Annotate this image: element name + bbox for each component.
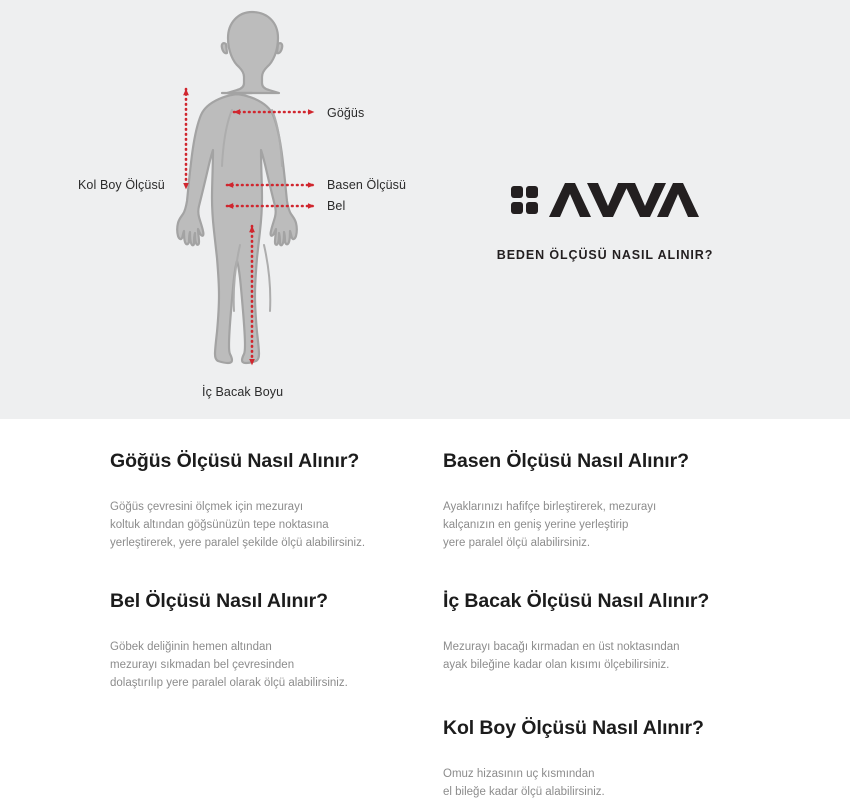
label-chest: Göğüs (327, 106, 364, 120)
instruction-heading: Bel Ölçüsü Nasıl Alınır? (110, 590, 420, 613)
instruction-block-inseam: İç Bacak Ölçüsü Nasıl Alınır? Mezurayı b… (443, 590, 773, 675)
instruction-heading: Göğüs Ölçüsü Nasıl Alınır? (110, 450, 420, 473)
body-shape (177, 12, 297, 363)
instruction-body: Göğüs çevresini ölçmek için mezurayı kol… (110, 499, 420, 552)
avva-four-squares-logo-icon (511, 186, 539, 214)
instruction-body: Mezurayı bacağı kırmadan en üst noktasın… (443, 639, 773, 675)
brand-caption: BEDEN ÖLÇÜSÜ NASIL ALINIR? (460, 248, 750, 262)
instruction-body: Omuz hizasının uç kısmından el bileğe ka… (443, 766, 773, 802)
instructions-column-left: Göğüs Ölçüsü Nasıl Alınır? Göğüs çevresi… (110, 419, 420, 693)
instruction-heading: Kol Boy Ölçüsü Nasıl Alınır? (443, 717, 773, 740)
instruction-heading: Basen Ölçüsü Nasıl Alınır? (443, 450, 773, 473)
label-sleeve-length: Kol Boy Ölçüsü (78, 178, 165, 192)
brand-block: BEDEN ÖLÇÜSÜ NASIL ALINIR? (460, 178, 750, 262)
label-inseam: İç Bacak Boyu (202, 385, 283, 399)
instruction-block-hip: Basen Ölçüsü Nasıl Alınır? Ayaklarınızı … (443, 450, 773, 552)
measurement-diagram-panel: Göğüs Basen Ölçüsü Bel Kol Boy Ölçüsü İç… (0, 0, 850, 419)
instructions-panel: Göğüs Ölçüsü Nasıl Alınır? Göğüs çevresi… (0, 419, 850, 775)
instruction-block-chest: Göğüs Ölçüsü Nasıl Alınır? Göğüs çevresi… (110, 450, 420, 552)
label-waist: Bel (327, 199, 345, 213)
instruction-body: Göbek deliğinin hemen altından mezurayı … (110, 639, 420, 692)
instructions-column-right: Basen Ölçüsü Nasıl Alınır? Ayaklarınızı … (443, 419, 773, 802)
instruction-body: Ayaklarınızı hafifçe birleştirerek, mezu… (443, 499, 773, 552)
avva-wordmark-icon (547, 180, 699, 220)
avva-logo (460, 178, 750, 222)
instruction-block-sleeve: Kol Boy Ölçüsü Nasıl Alınır? Omuz hizası… (443, 717, 773, 802)
instruction-heading: İç Bacak Ölçüsü Nasıl Alınır? (443, 590, 773, 613)
label-hip: Basen Ölçüsü (327, 178, 406, 192)
instruction-block-waist: Bel Ölçüsü Nasıl Alınır? Göbek deliğinin… (110, 590, 420, 692)
